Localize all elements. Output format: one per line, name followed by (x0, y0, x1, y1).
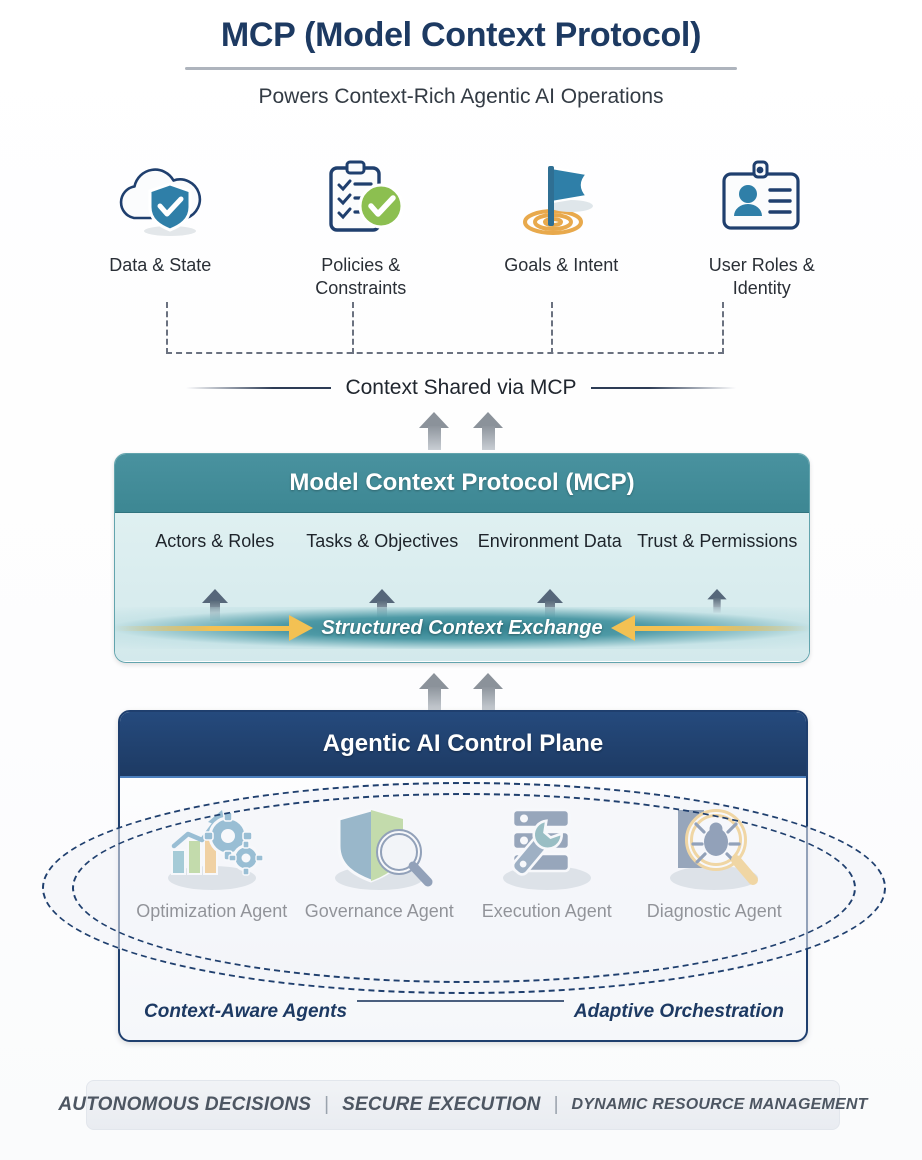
mcp-panel-body: Actors & Roles Tasks & Objectives Enviro… (115, 513, 809, 661)
control-plane-header: Agentic AI Control Plane (120, 712, 806, 778)
title-divider (185, 67, 737, 70)
diagram-canvas: MCP (Model Context Protocol) Powers Cont… (0, 0, 922, 1160)
clipboard-check-icon (309, 158, 413, 242)
context-source-label: Goals & Intent (504, 254, 618, 277)
footer-separator: | (324, 1094, 329, 1116)
footnote-context-aware-agents: Context-Aware Agents (144, 1000, 347, 1024)
bug-magnifier-icon (660, 802, 768, 894)
up-arrow-icon (419, 412, 449, 450)
agent-governance[interactable]: Governance Agent (296, 802, 464, 923)
agent-label: Governance Agent (305, 900, 454, 923)
agents-row: Optimization Agent Governance Agent (128, 802, 798, 923)
mcp-panel: Model Context Protocol (MCP) Actors & Ro… (114, 453, 810, 663)
footer-item-secure-execution: SECURE EXECUTION (342, 1094, 541, 1116)
context-source-label: User Roles & Identity (687, 254, 837, 300)
control-plane-title: Agentic AI Control Plane (323, 730, 603, 758)
footer-bar: AUTONOMOUS DECISIONS | SECURE EXECUTION … (86, 1080, 840, 1130)
context-source-label: Data & State (109, 254, 211, 277)
flow-arrows-to-control-plane (419, 673, 503, 711)
control-plane-footnotes: Context-Aware Agents Adaptive Orchestrat… (144, 1000, 784, 1024)
exchange-label: Structured Context Exchange (321, 617, 602, 640)
up-arrow-icon (419, 673, 449, 711)
mcp-items-row: Actors & Roles Tasks & Objectives Enviro… (131, 531, 801, 553)
footnote-connector-line (357, 1000, 564, 1002)
footnote-adaptive-orchestration: Adaptive Orchestration (574, 1000, 784, 1024)
cloud-shield-icon (108, 158, 212, 242)
context-bracket (166, 302, 724, 354)
context-shared-connector: Context Shared via MCP (0, 376, 922, 400)
structured-context-exchange-band: Structured Context Exchange (115, 607, 809, 649)
context-source-label: Policies & Constraints (286, 254, 436, 300)
up-arrow-icon (473, 412, 503, 450)
agent-label: Diagnostic Agent (647, 900, 782, 923)
mcp-item-tasks-objectives: Tasks & Objectives (299, 531, 467, 553)
page-subtitle: Powers Context-Rich Agentic AI Operation… (0, 85, 922, 109)
agent-optimization[interactable]: Optimization Agent (128, 802, 296, 923)
footer-item-autonomous-decisions: AUTONOMOUS DECISIONS (58, 1094, 311, 1116)
agent-label: Optimization Agent (136, 900, 287, 923)
agent-label: Execution Agent (482, 900, 612, 923)
mcp-item-environment-data: Environment Data (466, 531, 634, 553)
mcp-panel-header: Model Context Protocol (MCP) (115, 454, 809, 513)
arrow-left-icon (611, 615, 809, 641)
page-title: MCP (Model Context Protocol) (0, 16, 922, 55)
mcp-panel-title: Model Context Protocol (MCP) (289, 469, 634, 497)
arrow-right-icon (115, 615, 313, 641)
context-source-user-roles: User Roles & Identity (662, 158, 863, 300)
context-source-policies: Policies & Constraints (261, 158, 462, 300)
mcp-item-actors-roles: Actors & Roles (131, 531, 299, 553)
connector-rule-left (186, 387, 331, 389)
server-wrench-icon (493, 802, 601, 894)
footer-item-dynamic-resource-management: DYNAMIC RESOURCE MANAGEMENT (572, 1096, 868, 1114)
footer-separator: | (554, 1094, 559, 1116)
shield-magnifier-icon (325, 802, 433, 894)
id-badge-icon (710, 158, 814, 242)
up-arrow-icon (473, 673, 503, 711)
chart-gears-icon (158, 802, 266, 894)
context-source-data-state: Data & State (60, 158, 261, 300)
mcp-item-trust-permissions: Trust & Permissions (634, 531, 802, 553)
context-shared-label: Context Shared via MCP (345, 376, 576, 400)
connector-rule-right (591, 387, 736, 389)
agent-diagnostic[interactable]: Diagnostic Agent (631, 802, 799, 923)
context-sources-row: Data & State (60, 158, 862, 300)
flag-target-icon (509, 158, 613, 242)
agentic-control-plane-panel: Agentic AI Control Plane (118, 710, 808, 1042)
agent-execution[interactable]: Execution Agent (463, 802, 631, 923)
flow-arrows-to-mcp (419, 412, 503, 450)
context-source-goals: Goals & Intent (461, 158, 662, 300)
